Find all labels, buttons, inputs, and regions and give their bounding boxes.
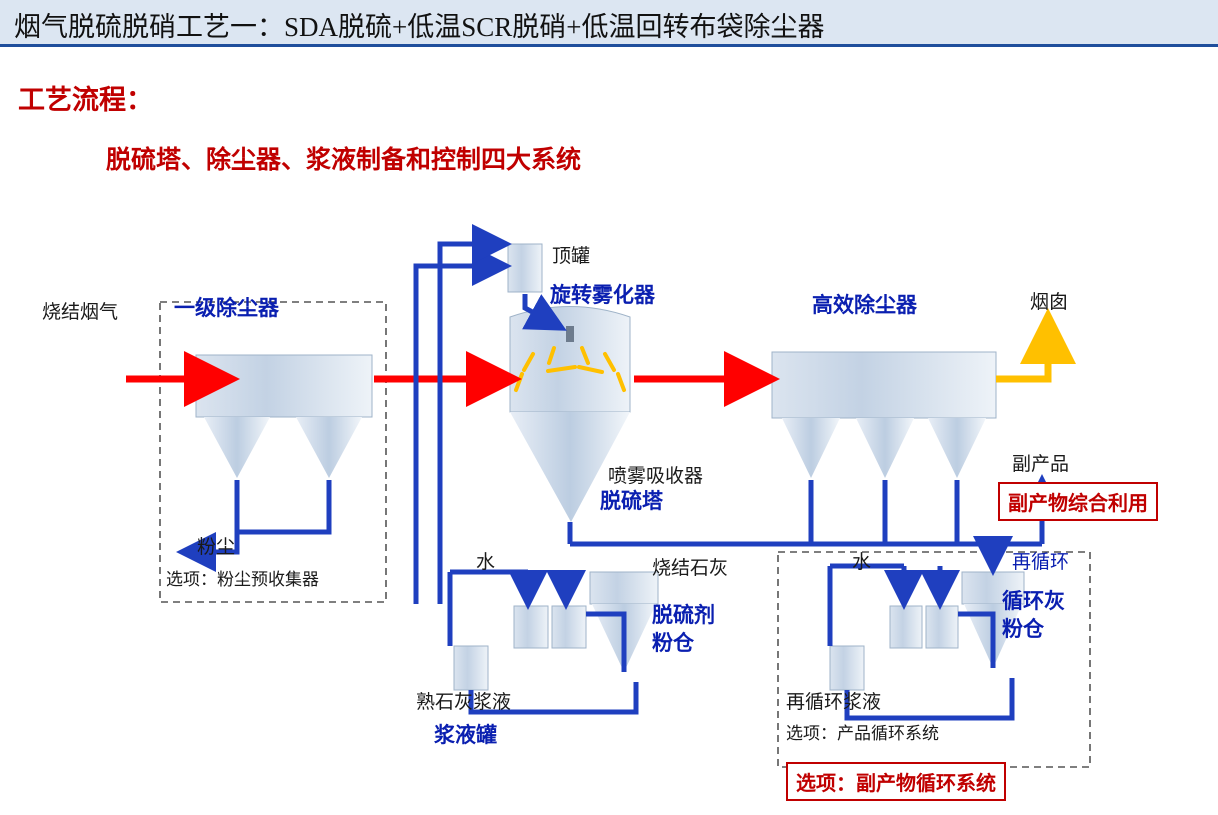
label-water-left: 水 bbox=[476, 552, 495, 574]
label-dust: 粉尘 bbox=[197, 537, 235, 559]
recycle-small-tank-1 bbox=[890, 606, 922, 648]
label-byproduct: 副产品 bbox=[1012, 454, 1069, 476]
label-chimney: 烟囱 bbox=[1030, 292, 1068, 314]
option-predust-box bbox=[160, 302, 386, 602]
section-subtitle: 脱硫塔、除尘器、浆液制备和控制四大系统 bbox=[106, 140, 581, 176]
process-flow-diagram: 烧结烟气 一级除尘器 粉尘 选项：粉尘预收集器 顶罐 旋转雾化器 喷雾吸收器 脱… bbox=[30, 222, 1188, 788]
atomizer-nozzle bbox=[566, 326, 574, 342]
label-desulf-agent-silo-line1: 脱硫剂 bbox=[652, 604, 715, 628]
slurry-tank-body bbox=[454, 646, 488, 690]
label-primary-dust-collector: 一级除尘器 bbox=[174, 297, 279, 321]
stack-flow-arrow bbox=[996, 322, 1048, 379]
label-rotary-atomizer: 旋转雾化器 bbox=[550, 284, 655, 308]
label-quicklime: 烧结石灰 bbox=[652, 558, 728, 580]
desulf-agent-silo-body bbox=[590, 572, 658, 604]
primary-dust-hopper-2 bbox=[296, 417, 362, 478]
label-recycle: 再循环 bbox=[1012, 552, 1069, 574]
label-top-tank: 顶罐 bbox=[552, 246, 590, 268]
high-eff-hopper-2 bbox=[856, 418, 914, 478]
high-eff-hopper-3 bbox=[928, 418, 986, 478]
recycle-slurry-tank bbox=[830, 646, 864, 690]
slurry-small-tank-1 bbox=[514, 606, 548, 648]
recycle-small-tank-2 bbox=[926, 606, 958, 648]
label-option-product-cycle: 选项：产品循环系统 bbox=[786, 724, 939, 744]
label-option-byproduct-cycle: 选项：副产物循环系统 bbox=[786, 762, 1006, 801]
label-slaked-lime-slurry: 熟石灰浆液 bbox=[416, 692, 511, 714]
label-slurry-tank: 浆液罐 bbox=[434, 724, 497, 748]
section-title: 工艺流程： bbox=[18, 78, 153, 117]
label-high-efficiency-dust-collector: 高效除尘器 bbox=[812, 294, 917, 318]
label-recycle-ash-silo-line2: 粉仓 bbox=[1002, 618, 1044, 642]
high-eff-hopper-1 bbox=[782, 418, 840, 478]
high-efficiency-dust-collector-body bbox=[772, 352, 996, 418]
label-option-predust: 选项：粉尘预收集器 bbox=[166, 570, 319, 590]
label-recycle-slurry: 再循环浆液 bbox=[786, 692, 881, 714]
label-water-right: 水 bbox=[852, 552, 871, 574]
slurry-small-tank-2 bbox=[552, 606, 586, 648]
label-spray-absorber: 喷雾吸收器 bbox=[608, 466, 703, 488]
label-recycle-ash-silo-line1: 循环灰 bbox=[1002, 590, 1065, 614]
top-tank-body bbox=[508, 244, 542, 292]
primary-dust-hopper-1 bbox=[204, 417, 270, 478]
label-byproduct-comprehensive-use: 副产物综合利用 bbox=[998, 482, 1158, 521]
label-flue-gas-in: 烧结烟气 bbox=[42, 302, 118, 324]
page-title: 烟气脱硫脱硝工艺一：SDA脱硫+低温SCR脱硝+低温回转布袋除尘器 bbox=[14, 5, 825, 44]
label-desulfurization-tower: 脱硫塔 bbox=[600, 490, 663, 514]
label-desulf-agent-silo-line2: 粉仓 bbox=[652, 632, 694, 656]
primary-dust-collector-body bbox=[196, 355, 372, 417]
